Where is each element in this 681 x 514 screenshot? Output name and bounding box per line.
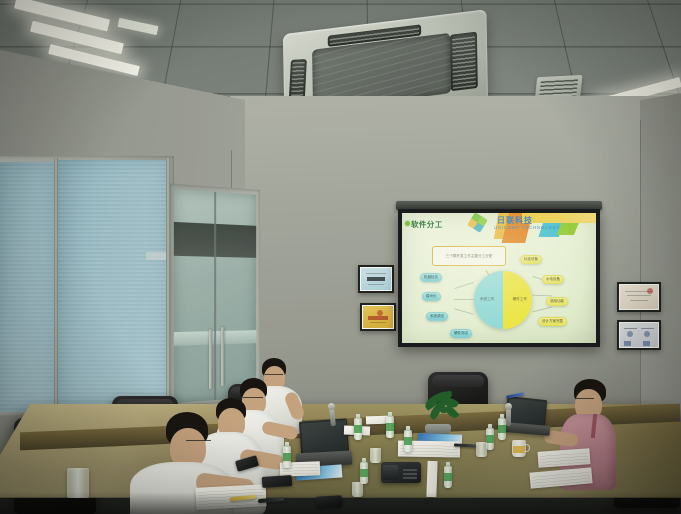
brand-name-en: UNICOMP TECHNOLOGY (494, 225, 560, 230)
smartphone[interactable] (316, 495, 343, 508)
window-mullion (54, 158, 58, 412)
pie-label-right: 硬件工作 (513, 297, 527, 302)
water-bottle[interactable] (283, 446, 291, 468)
water-bottle[interactable] (486, 428, 494, 450)
conference-speakerphone[interactable] (381, 462, 421, 483)
document-sheet (366, 416, 388, 425)
door-handle[interactable] (221, 327, 224, 387)
water-bottle[interactable] (360, 462, 368, 484)
pie-label-left: 系统工作 (480, 297, 494, 302)
blind-pull-tab[interactable] (146, 252, 166, 260)
water-bottle[interactable] (444, 466, 452, 488)
slide-title-bullet-icon (405, 221, 410, 226)
conference-room-photo: 软件分工 日联科技 UNICOMP TECHNOLOGY 三个群开发工作主要分工… (0, 0, 681, 514)
door-handle[interactable] (209, 329, 212, 389)
right-wall (640, 89, 681, 441)
drinking-glass-large[interactable] (67, 468, 89, 498)
slide-bubble-right-4: 设计方案完整 (538, 317, 567, 326)
slide-bubble-left-2: 模块化 (422, 292, 441, 301)
water-bottle[interactable] (498, 418, 506, 440)
certificate-blue (358, 265, 394, 293)
document-sheet (426, 461, 437, 497)
drinking-glass[interactable] (352, 482, 363, 497)
slide-bubble-right-1: 标准设备 (520, 255, 542, 264)
window-blind-right[interactable] (58, 160, 168, 408)
pie-chart: 系统工作 硬件工作 (474, 271, 532, 329)
projection-screen: 软件分工 日联科技 UNICOMP TECHNOLOGY 三个群开发工作主要分工… (398, 209, 600, 347)
water-bottle[interactable] (354, 418, 362, 440)
smartphone[interactable] (262, 475, 293, 488)
drinking-glass[interactable] (476, 442, 487, 457)
water-bottle[interactable] (386, 416, 394, 438)
certificate-cream (617, 282, 661, 312)
certificate-gold (360, 303, 396, 331)
water-bottle[interactable] (404, 430, 412, 452)
glass-door[interactable] (170, 183, 260, 406)
slide-bubble-left-1: 机器检查 (420, 273, 442, 282)
slide-title: 软件分工 (411, 219, 443, 230)
slide-ribbon-band (522, 213, 596, 223)
pen-black[interactable] (258, 497, 284, 503)
phone-handset[interactable] (383, 465, 398, 480)
slide-bubble-right-3: 调用功能 (546, 297, 568, 306)
slide-bubble-left-3: 系统调试 (426, 312, 448, 321)
slide-surface: 软件分工 日联科技 UNICOMP TECHNOLOGY 三个群开发工作主要分工… (402, 213, 596, 343)
coffee-mug[interactable] (512, 440, 526, 457)
microphone[interactable] (506, 408, 511, 426)
drinking-glass[interactable] (370, 448, 381, 463)
phone-keypad[interactable] (403, 467, 417, 479)
slide-bubble-left-4: 硬件测试 (450, 329, 472, 338)
window-blind-left[interactable] (0, 162, 54, 412)
certificate-pale (617, 320, 661, 350)
slide-bubble-right-2: 水电设备 (542, 275, 564, 284)
